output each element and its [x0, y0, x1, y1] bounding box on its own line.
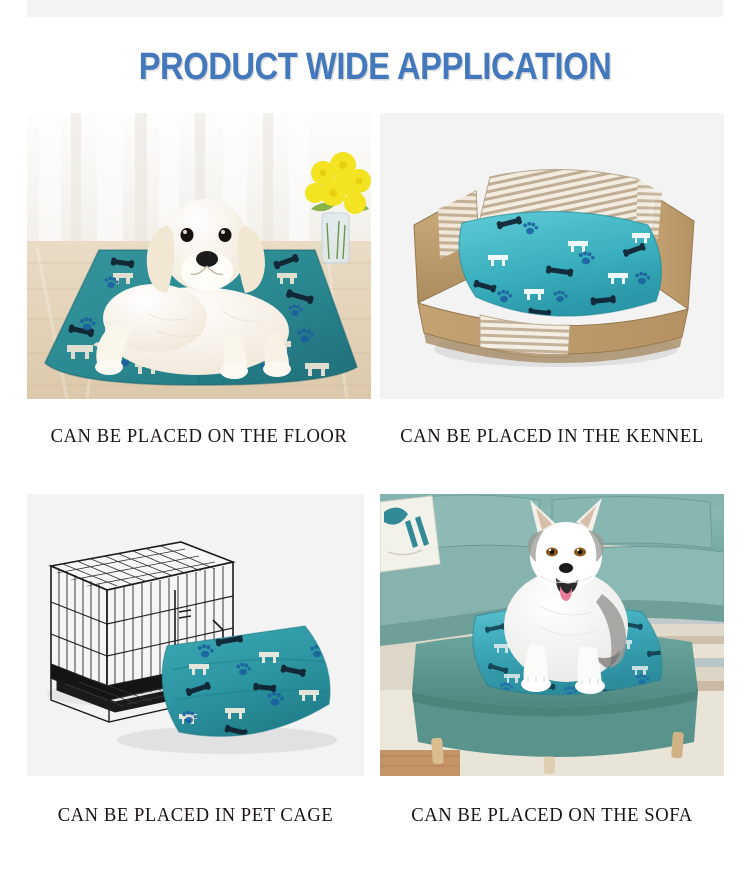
application-card-sofa[interactable]: CAN BE PLACED ON THE SOFA [380, 494, 724, 884]
caption-cage: CAN BE PLACED IN PET CAGE [39, 804, 352, 827]
caption-floor: CAN BE PLACED ON THE FLOOR [39, 425, 359, 448]
caption-kennel: CAN BE PLACED IN THE KENNEL [392, 425, 712, 448]
application-card-cage[interactable]: CAN BE PLACED IN PET CAGE [27, 494, 364, 884]
product-application-page: PRODUCT WIDE APPLICATION [0, 0, 750, 884]
throw-pillow [380, 496, 440, 572]
pet-mat [459, 211, 661, 317]
caption-sofa: CAN BE PLACED ON THE SOFA [392, 804, 712, 827]
application-grid: CAN BE PLACED ON THE FLOOR [0, 113, 750, 884]
scene-image-cage [27, 494, 364, 776]
application-row-bottom: CAN BE PLACED IN PET CAGE [0, 494, 750, 884]
page-title: PRODUCT WIDE APPLICATION [53, 46, 698, 89]
application-row-top: CAN BE PLACED ON THE FLOOR [0, 113, 750, 494]
scene-image-sofa [380, 494, 724, 776]
application-card-kennel[interactable]: CAN BE PLACED IN THE KENNEL [380, 113, 724, 494]
top-divider-band [27, 0, 723, 17]
scene-image-floor [27, 113, 371, 399]
scene-image-kennel [380, 113, 724, 399]
application-card-floor[interactable]: CAN BE PLACED ON THE FLOOR [27, 113, 371, 494]
